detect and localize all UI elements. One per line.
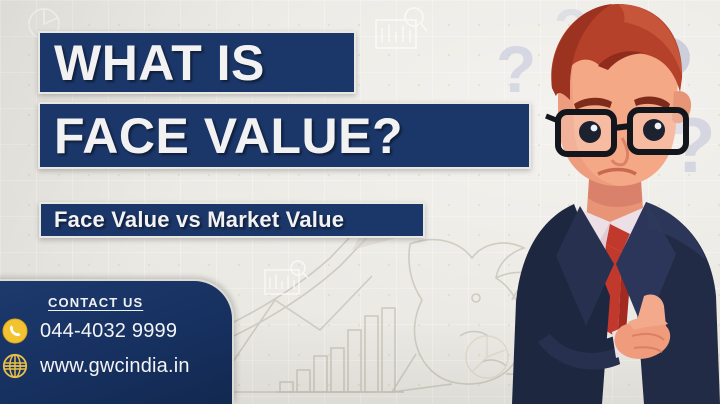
contact-phone-row[interactable]: 044-4032 9999 (2, 316, 232, 346)
phone-number: 044-4032 9999 (40, 320, 177, 343)
thinking-businessman-illustration (494, 0, 720, 404)
banner-canvas: ? ? ? ? ? (0, 0, 720, 404)
website-url: www.gwcindia.in (40, 355, 190, 378)
headline-banner-line2: FACE VALUE? (38, 102, 531, 169)
contact-website-row[interactable]: www.gwcindia.in (2, 351, 232, 381)
globe-icon (2, 353, 28, 379)
headline-line2: FACE VALUE? (54, 111, 403, 161)
contact-us-heading: CONTACT US (48, 295, 232, 310)
subtitle-banner: Face Value vs Market Value (39, 202, 425, 238)
phone-icon (2, 318, 28, 344)
contact-card: CONTACT US 044-4032 9999 www.gwcindia.in (0, 279, 234, 404)
headline-line1: WHAT IS (54, 38, 265, 88)
subtitle-text: Face Value vs Market Value (54, 209, 344, 231)
headline-banner-line1: WHAT IS (38, 31, 356, 94)
